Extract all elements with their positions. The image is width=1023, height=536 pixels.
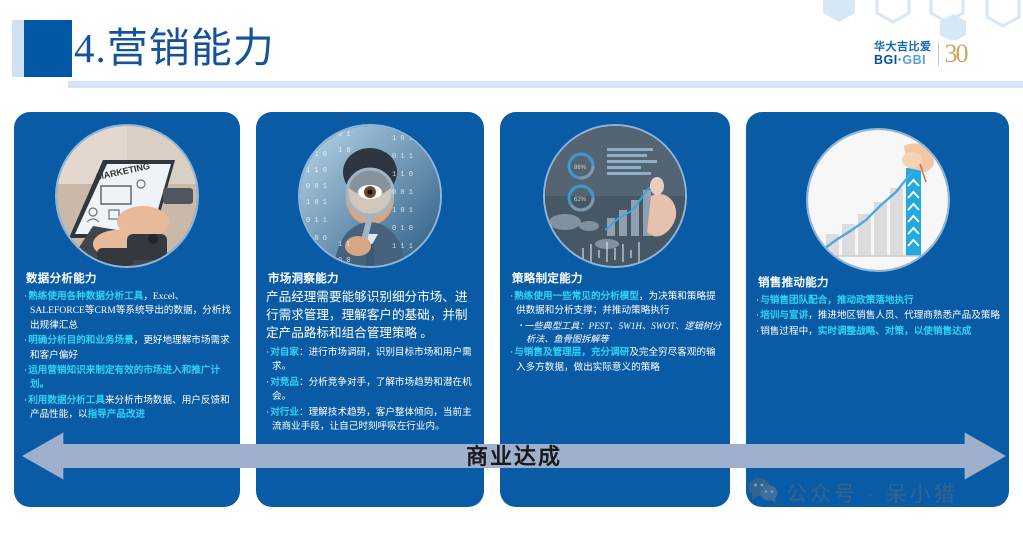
svg-text:1 0 0: 1 0 0 bbox=[306, 235, 327, 243]
svg-text:1 0 1: 1 0 1 bbox=[392, 207, 413, 215]
brand-name-en: BGI·GBI bbox=[874, 53, 932, 67]
laptop-marketing-photo: MARKETING bbox=[57, 126, 197, 266]
svg-text:1 0: 1 0 bbox=[338, 147, 351, 155]
brand-gbi: GBI bbox=[902, 53, 926, 67]
card-title: 销售推动能力 bbox=[758, 274, 829, 290]
list-item: 明确分析目的和业务场景，更好地理解市场需求和客户偏好 bbox=[24, 334, 232, 363]
list-item: 与销售及管理层，充分调研及完全穷尽客观的输入多方数据，做出实际意义的策略 bbox=[510, 346, 722, 375]
growth-chart-hand-photo bbox=[808, 130, 948, 270]
arrow-label: 商业达成 bbox=[22, 439, 1006, 471]
title-accent-square bbox=[24, 20, 72, 77]
svg-text:0 1: 0 1 bbox=[338, 131, 351, 139]
svg-text:1 0 1: 1 0 1 bbox=[306, 199, 327, 207]
title-underline bbox=[68, 81, 1023, 88]
card-body: 熟练使用一些常见的分析模型，为决策和策略提供数据和分析支撑；并推动策略执行 一些… bbox=[510, 290, 722, 376]
page-header: 4.营销能力 华大吉比爱 BGI·GBI 30 bbox=[0, 0, 1023, 104]
list-item: 对自家：进行市场调研，识别目标市场和用户需求。 bbox=[266, 346, 476, 375]
svg-text:1 1 1: 1 1 1 bbox=[392, 243, 413, 251]
wechat-icon bbox=[748, 477, 778, 508]
svg-text:0 1 1: 0 1 1 bbox=[306, 217, 327, 225]
svg-text:0 1 0: 0 1 0 bbox=[306, 251, 327, 259]
svg-text:0 0 1: 0 0 1 bbox=[392, 189, 413, 197]
dashboard-touch-photo: 86% 62% bbox=[545, 126, 685, 266]
svg-text:1 0 1: 1 0 1 bbox=[306, 135, 327, 143]
svg-text:0 0: 0 0 bbox=[338, 257, 351, 265]
svg-text:0 1 0: 0 1 0 bbox=[392, 225, 413, 233]
anniversary-mark: 30 bbox=[945, 41, 967, 67]
brand-name-cn: 华大吉比爱 bbox=[874, 41, 932, 53]
card-lead-text: 产品经理需要能够识别细分市场、进行需求管理，理解客户的基础，并制定产品路标和组合… bbox=[266, 288, 476, 342]
sub-list-item: 一些典型工具：PEST、5W1H、SWOT、逻辑树分析法、鱼骨图拆解等 bbox=[510, 320, 722, 346]
svg-text:1 1: 1 1 bbox=[338, 241, 351, 249]
list-item: 培训与宣讲，推进地区销售人员、代理商熟悉产品及策略 bbox=[756, 309, 1001, 323]
card-body: 产品经理需要能够识别细分市场、进行需求管理，理解客户的基础，并制定产品路标和组合… bbox=[266, 288, 476, 435]
svg-text:1 1 0: 1 1 0 bbox=[306, 167, 327, 175]
svg-text:0 0 1: 0 0 1 bbox=[306, 183, 327, 191]
svg-text:0 1 0: 0 1 0 bbox=[306, 151, 327, 159]
card-title: 策略制定能力 bbox=[512, 270, 583, 286]
list-item: 熟练使用各种数据分析工具，Excel、SALEFORCE等CRM等系统导出的数据… bbox=[24, 290, 232, 333]
card-body: 与销售团队配合，推动政策落地执行 培训与宣讲，推进地区销售人员、代理商熟悉产品及… bbox=[756, 294, 1001, 340]
card-body: 熟练使用各种数据分析工具，Excel、SALEFORCE等CRM等系统导出的数据… bbox=[24, 290, 232, 424]
brand-logo-wordmark: 华大吉比爱 BGI·GBI bbox=[874, 41, 932, 67]
list-item: 与销售团队配合，推动政策落地执行 bbox=[756, 294, 1001, 308]
svg-text:1 1 0: 1 1 0 bbox=[392, 171, 413, 179]
list-item: 对竞品：分析竞争对手，了解市场趋势和潜在机会。 bbox=[266, 376, 476, 405]
watermark-text: 公众号 · 呆小猎 bbox=[786, 478, 958, 508]
magnifier-data-photo: 1 0 10 1 01 1 0 0 0 11 0 10 1 1 1 0 00 1… bbox=[300, 126, 440, 266]
list-item: 运用营销知识来制定有效的市场进入和推广计划。 bbox=[24, 364, 232, 393]
page-title: 4.营销能力 bbox=[74, 14, 275, 74]
svg-text:1 0 1: 1 0 1 bbox=[392, 135, 413, 143]
hexagon-decoration bbox=[823, 0, 1023, 40]
title-accent-light-bar bbox=[12, 20, 24, 77]
card-title: 数据分析能力 bbox=[26, 270, 97, 286]
card-title: 市场洞察能力 bbox=[268, 270, 339, 286]
list-item: 销售过程中，实时调整战略、对策，以使销售达成 bbox=[756, 325, 1001, 339]
brand-logo: 华大吉比爱 BGI·GBI 30 bbox=[874, 41, 967, 67]
list-item: 熟练使用一些常见的分析模型，为决策和策略提供数据和分析支撑；并推动策略执行 bbox=[510, 290, 722, 319]
brand-bgi: BGI bbox=[874, 53, 898, 67]
brand-divider bbox=[938, 42, 939, 66]
list-item: 利用数据分析工具来分析市场数据、用户反馈和产品性能，以指导产品改进 bbox=[24, 394, 232, 423]
watermark: 公众号 · 呆小猎 bbox=[748, 477, 958, 508]
svg-text:0 1 1: 0 1 1 bbox=[392, 153, 413, 161]
business-achievement-arrow: 商业达成 bbox=[22, 431, 1006, 481]
